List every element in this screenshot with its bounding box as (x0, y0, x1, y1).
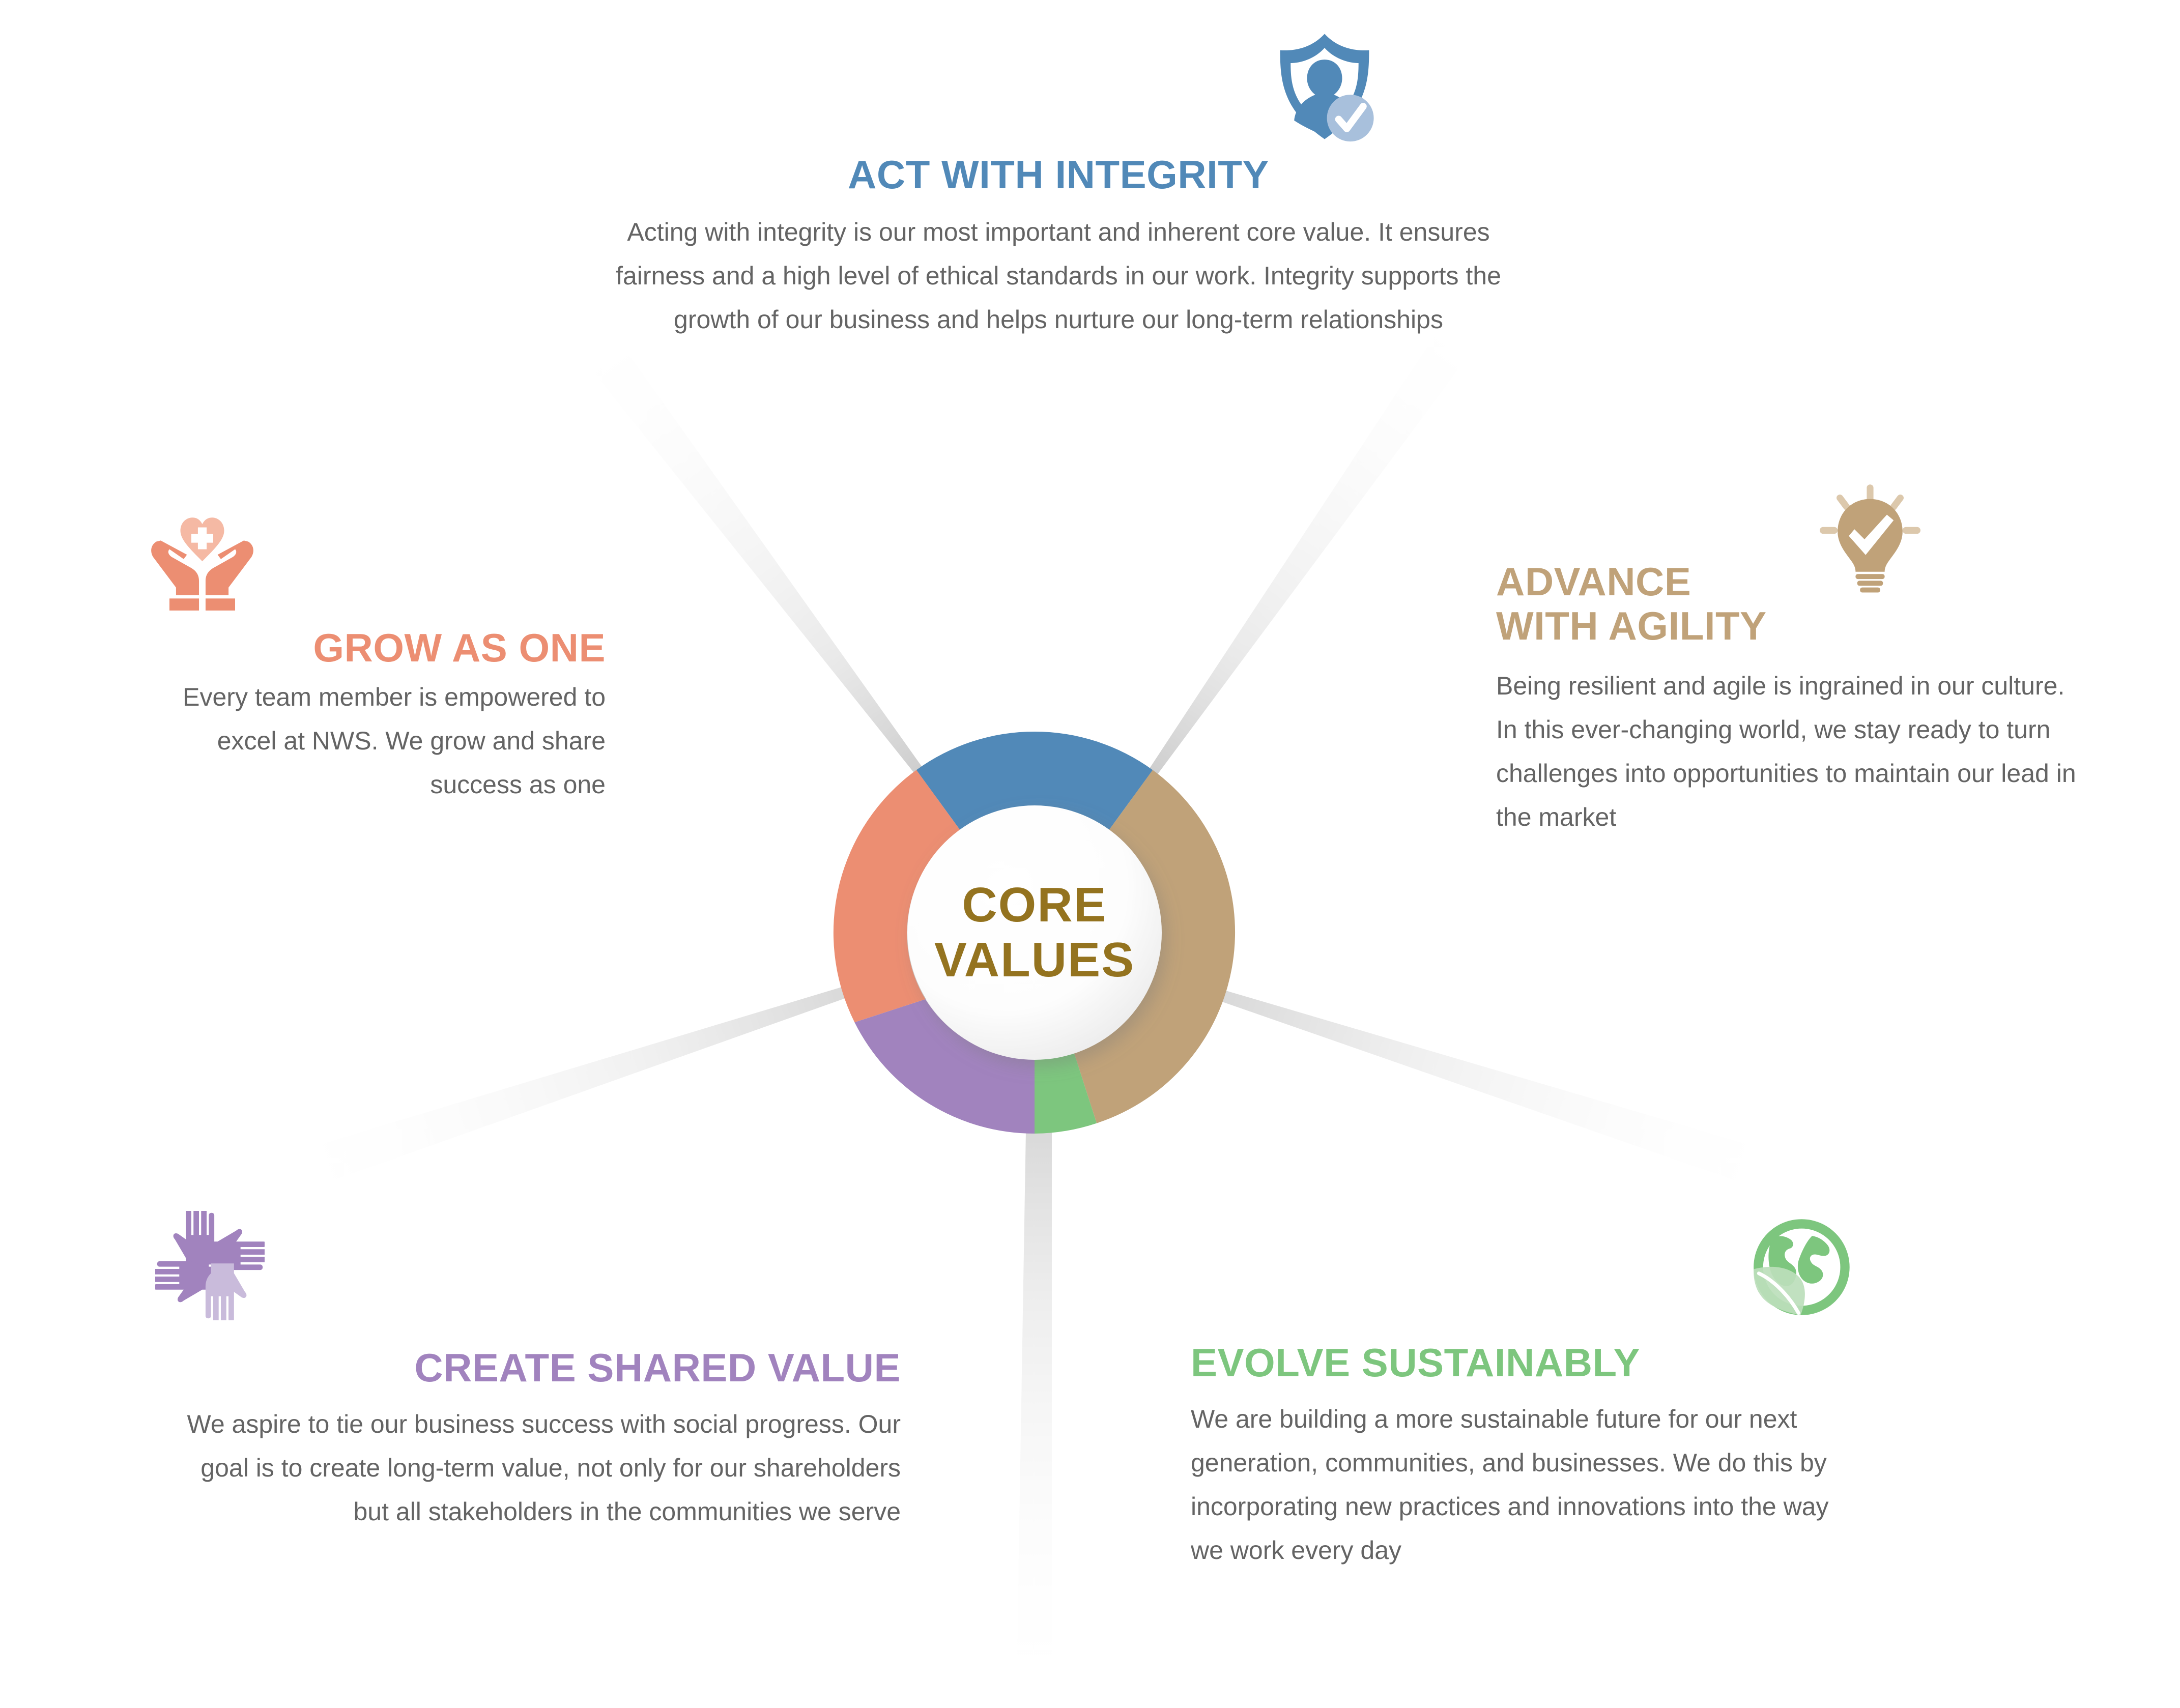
four-hands-icon (155, 1211, 265, 1320)
hands-heart-cross-icon (148, 509, 257, 618)
value-block-evolve-sustainably: EVOLVE SUSTAINABLY We are building a mor… (1191, 1341, 1862, 1572)
shield-person-check-icon (1266, 28, 1383, 145)
value-title-advance-with-agility: ADVANCE WITH AGILITY (1496, 560, 2076, 649)
value-body-evolve-sustainably: We are building a more sustainable futur… (1191, 1397, 1862, 1572)
value-body-advance-with-agility: Being resilient and agile is ingrained i… (1496, 664, 2076, 839)
value-title-create-shared-value: CREATE SHARED VALUE (168, 1346, 901, 1390)
value-title-line2: WITH AGILITY (1496, 603, 1767, 648)
donut-hub (907, 805, 1162, 1060)
value-title-line1: ADVANCE (1496, 559, 1691, 604)
value-title-act-with-integrity: ACT WITH INTEGRITY (600, 153, 1516, 197)
value-title-grow-as-one: GROW AS ONE (148, 626, 606, 670)
value-block-create-shared-value: CREATE SHARED VALUE We aspire to tie our… (168, 1346, 901, 1533)
value-body-create-shared-value: We aspire to tie our business success wi… (168, 1402, 901, 1533)
value-block-advance-with-agility: ADVANCE WITH AGILITY Being resilient and… (1496, 560, 2076, 839)
value-block-grow-as-one: GROW AS ONE Every team member is empower… (148, 626, 606, 806)
value-block-act-with-integrity: ACT WITH INTEGRITY Acting with integrity… (600, 153, 1516, 341)
value-title-evolve-sustainably: EVOLVE SUSTAINABLY (1191, 1341, 1862, 1385)
value-body-grow-as-one: Every team member is empowered to excel … (148, 675, 606, 806)
core-values-donut-chart (834, 732, 1236, 1134)
core-values-infographic: CORE VALUES ACT WITH INTEGRITY Acting wi… (0, 0, 2180, 1708)
globe-leaf-icon (1749, 1215, 1854, 1319)
value-body-act-with-integrity: Acting with integrity is our most import… (600, 210, 1516, 341)
